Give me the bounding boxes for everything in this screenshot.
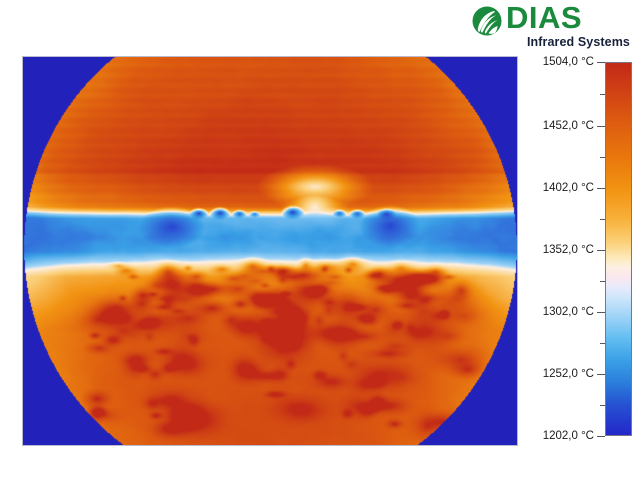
brand-wordmark: DIAS (506, 1, 582, 35)
colorbar-tick-minor (600, 281, 605, 282)
brand-header: DIAS Infrared Systems (472, 4, 632, 50)
thermal-image-panel[interactable] (22, 56, 518, 446)
colorbar-tick-minor (600, 219, 605, 220)
colorbar-tick-major (597, 312, 605, 313)
colorbar-tick-label: 1352,0 °C (543, 244, 594, 256)
colorbar-tick-major (597, 374, 605, 375)
colorbar-tick-minor (600, 343, 605, 344)
colorbar-tick-major (597, 188, 605, 189)
colorbar-tick-major (597, 436, 605, 437)
colorbar-tick-major (597, 62, 605, 63)
colorbar-tick-label: 1452,0 °C (543, 120, 594, 132)
brand-tagline: Infrared Systems (527, 35, 630, 49)
infrared-thermal-image[interactable] (23, 57, 517, 445)
colorbar-tick-label: 1202,0 °C (543, 430, 594, 442)
colorbar-tick-minor (600, 405, 605, 406)
colorbar-tick-minor (600, 94, 605, 95)
colorbar-tick-major (597, 126, 605, 127)
colorbar-tick-label: 1504,0 °C (543, 56, 594, 68)
colorbar-gradient-strip[interactable] (605, 62, 632, 436)
colorbar-tick-label: 1402,0 °C (543, 182, 594, 194)
colorbar-tick-label: 1252,0 °C (543, 368, 594, 380)
colorbar-tick-major (597, 250, 605, 251)
temperature-color-scale[interactable]: 1504,0 °C1452,0 °C1402,0 °C1352,0 °C1302… (536, 56, 636, 446)
colorbar-tick-label: 1302,0 °C (543, 306, 594, 318)
dias-leaf-logo-icon (472, 6, 502, 36)
colorbar-tick-minor (600, 157, 605, 158)
